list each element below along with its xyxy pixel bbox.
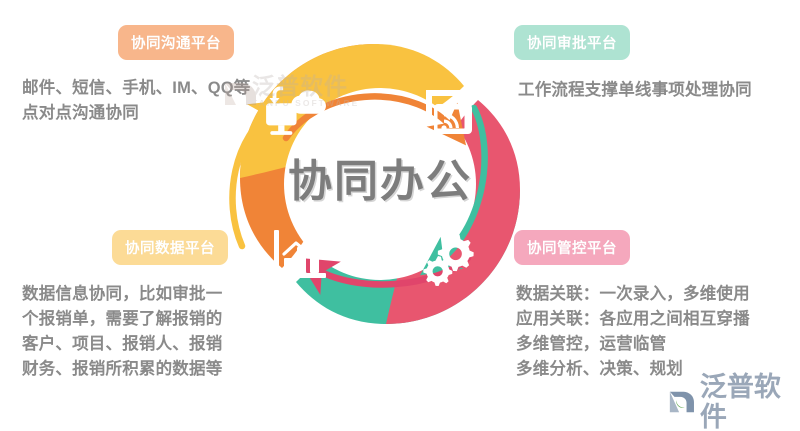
- badge-collaborative-data-platform: 协同数据平台: [112, 230, 228, 265]
- cycle-diagram: [228, 32, 532, 336]
- description-approval: 工作流程支撑单线事项处理协同: [518, 78, 798, 103]
- badge-collaborative-communication-platform: 协同沟通平台: [118, 25, 234, 60]
- logo-swoosh-icon: [668, 387, 696, 417]
- brand-logo: 泛普软件 www.fanpusoft.com: [668, 372, 800, 426]
- description-data: 数据信息协同，比如审批一个报销单，需要了解报销的客户、项目、报销人、报销财务、报…: [22, 282, 227, 382]
- infographic-canvas: 协同沟通平台 协同审批平台 协同数据平台 协同管控平台 邮件、短信、手机、IM、…: [0, 0, 800, 431]
- logo-brand-name: 泛普软件: [700, 372, 800, 431]
- description-control: 数据关联：一次录入，多维使用 应用关联：各应用之间相互穿播 多维管控，运营临管 …: [516, 282, 800, 382]
